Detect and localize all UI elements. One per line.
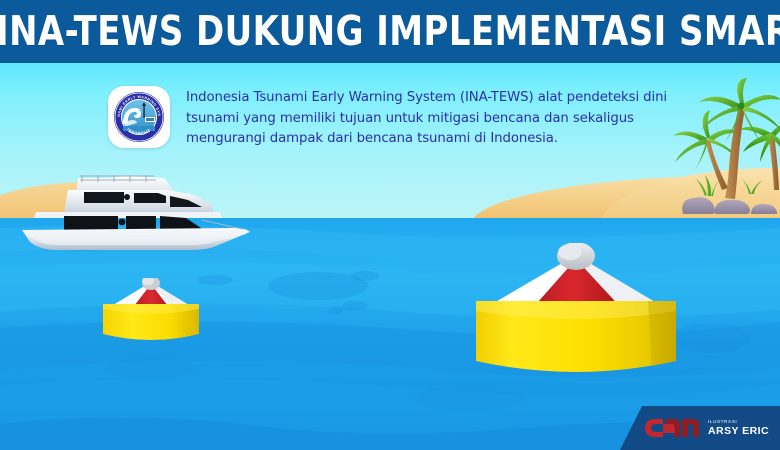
yacht <box>6 172 254 254</box>
shore-rocks <box>655 180 780 216</box>
cnn-logo-icon <box>642 415 702 441</box>
ina-tews-logo: TSUNAMI EARLY WARNING SYSTEM INDONESIA <box>108 86 170 148</box>
tsunami-buoy-large <box>472 243 680 393</box>
page-title: INA-TEWS DUKUNG IMPLEMENTASI SMART SOCIE… <box>0 6 723 56</box>
info-block: TSUNAMI EARLY WARNING SYSTEM INDONESIA I… <box>108 84 688 164</box>
credit-author: ARSY ERIC <box>708 425 769 438</box>
header-bar: INA-TEWS DUKUNG IMPLEMENTASI SMART SOCIE… <box>0 0 780 63</box>
tsunami-buoy-small <box>95 278 207 356</box>
info-paragraph: Indonesia Tsunami Early Warning System (… <box>186 84 686 150</box>
infographic-canvas: INA-TEWS DUKUNG IMPLEMENTASI SMART SOCIE… <box>0 0 780 450</box>
credit-banner: ILUSTRASI ARSY ERIC <box>620 406 780 450</box>
tsunami-early-warning-badge-icon: TSUNAMI EARLY WARNING SYSTEM INDONESIA <box>112 90 166 144</box>
